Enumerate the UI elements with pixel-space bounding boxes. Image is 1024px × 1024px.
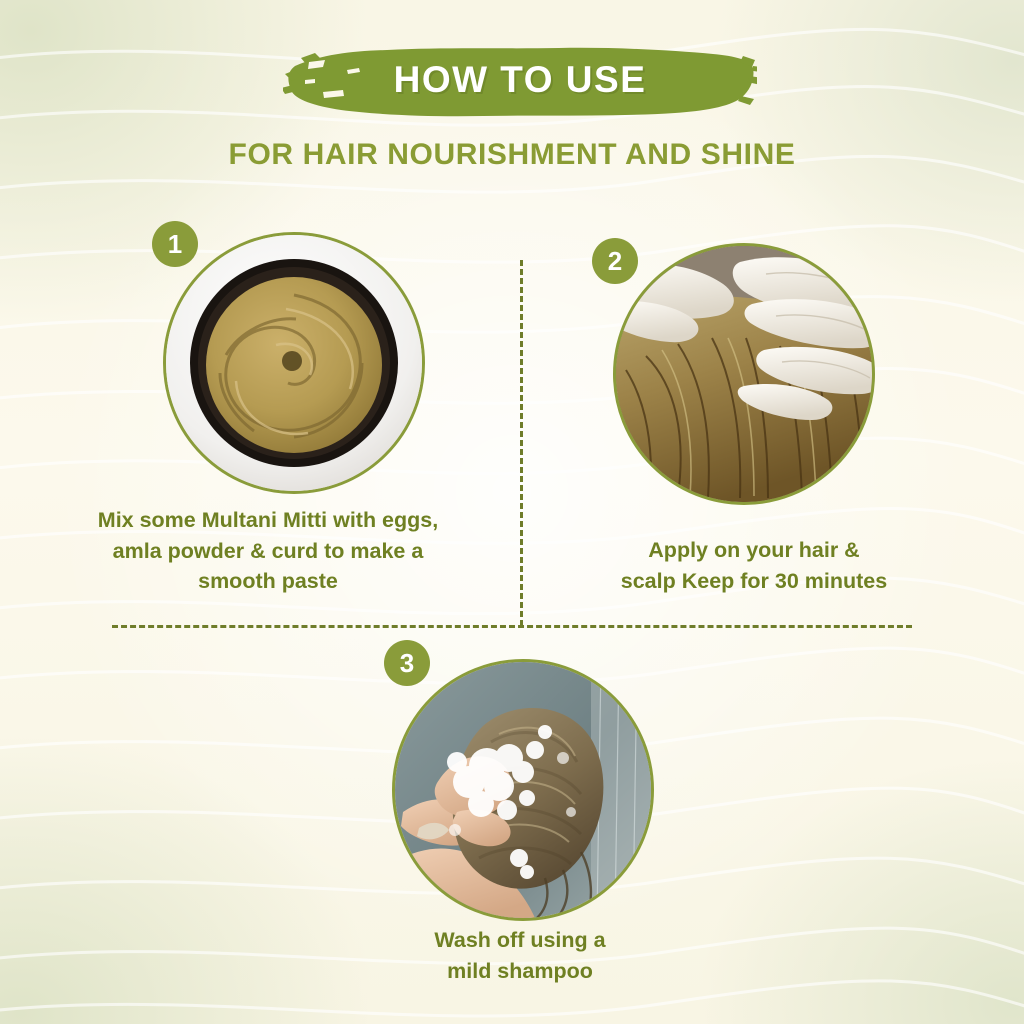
page-title: HOW TO USE <box>283 44 757 118</box>
step-1-caption-line-3: smooth paste <box>68 566 468 597</box>
step-3-caption-line-2: mild shampoo <box>325 956 715 987</box>
step-3-badge: 3 <box>384 640 430 686</box>
divider-horizontal <box>112 625 912 628</box>
step-3-image <box>392 659 654 921</box>
divider-vertical <box>520 260 523 626</box>
header-banner: HOW TO USE <box>283 44 757 118</box>
page-subtitle: FOR HAIR NOURISHMENT AND SHINE <box>0 138 1024 172</box>
step-1-caption-line-1: Mix some Multani Mitti with eggs, <box>68 505 468 536</box>
step-2-badge: 2 <box>592 238 638 284</box>
step-3-caption-line-1: Wash off using a <box>325 925 715 956</box>
step-2-caption-line-1: Apply on your hair & <box>544 535 964 566</box>
step-2-caption-line-2: scalp Keep for 30 minutes <box>544 566 964 597</box>
bowl-of-multani-mitti-paste-photo <box>166 235 422 491</box>
step-1-image <box>163 232 425 494</box>
step-1-caption-line-2: amla powder & curd to make a <box>68 536 468 567</box>
woman-shampooing-hair-in-shower-photo <box>395 662 651 918</box>
step-2-caption: Apply on your hair & scalp Keep for 30 m… <box>544 535 964 596</box>
step-2-image <box>613 243 875 505</box>
step-3-caption: Wash off using a mild shampoo <box>325 925 715 986</box>
infographic-page: HOW TO USE FOR HAIR NOURISHMENT AND SHIN… <box>0 0 1024 1024</box>
gloved-hands-applying-paste-to-hair-photo <box>616 246 872 502</box>
step-1-caption: Mix some Multani Mitti with eggs, amla p… <box>68 505 468 597</box>
step-1-badge: 1 <box>152 221 198 267</box>
